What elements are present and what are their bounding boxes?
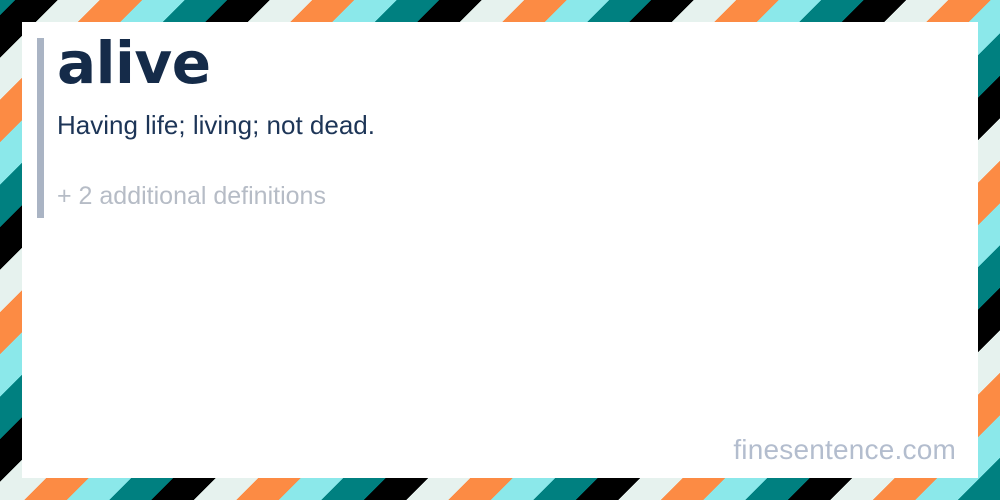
left-accent-rule [37, 38, 44, 218]
additional-definitions-link[interactable]: + 2 additional definitions [57, 141, 948, 211]
primary-definition: Having life; living; not dead. [57, 95, 948, 142]
headword: alive [57, 22, 948, 95]
dictionary-entry: alive Having life; living; not dead. + 2… [57, 22, 948, 211]
card-canvas: alive Having life; living; not dead. + 2… [22, 22, 978, 478]
dictionary-card-frame: alive Having life; living; not dead. + 2… [0, 0, 1000, 500]
site-watermark: finesentence.com [733, 434, 956, 466]
